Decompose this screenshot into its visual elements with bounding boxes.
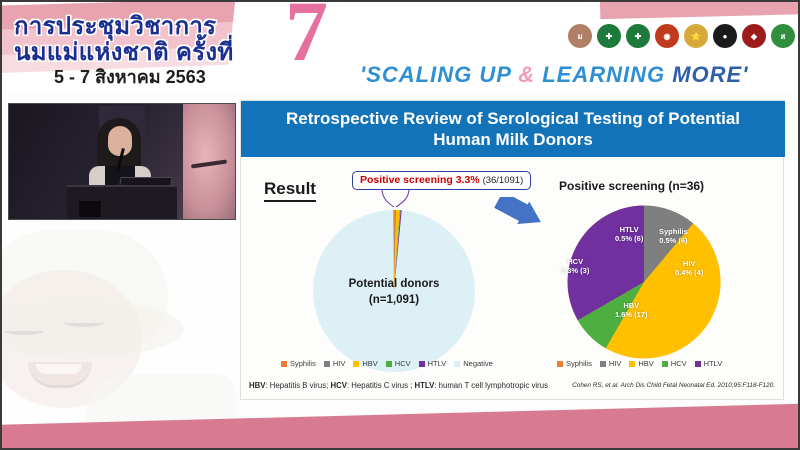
footnote-hcv-abbr: HCV <box>330 381 346 390</box>
left-pie-center-line-1: Potential donors <box>304 277 484 293</box>
callout-highlight-text: Positive screening 3.3% <box>360 174 480 186</box>
slice-label-hiv: HIV 0.4% (4) <box>675 259 703 278</box>
slice-label-hcv: HCV 0.3% (3) <box>561 257 589 276</box>
positive-screening-callout: Positive screening 3.3% (36/1091) <box>352 171 531 190</box>
conference-date-thai: 5 - 7 สิงหาคม 2563 <box>54 62 206 91</box>
legend-swatch-icon <box>281 361 287 367</box>
legend-item-right-hcv[interactable]: HCV <box>662 359 687 368</box>
right-pie-title: Positive screening (n=36) <box>559 179 704 193</box>
right-pie-chart: HTLV 0.5% (6) Syphilis 0.5% (6) HIV 0.4%… <box>559 197 729 357</box>
slice-label-hbv: HBV 1.6% (17) <box>615 301 648 320</box>
left-pie-legend: SyphilisHIVHBVHCVHTLVNegative <box>281 359 493 368</box>
legend-label: HIV <box>609 359 622 368</box>
legend-label: Syphilis <box>566 359 592 368</box>
legend-label: Syphilis <box>290 359 316 368</box>
baby-face <box>0 270 142 408</box>
source-citation: Cohen RS, et al. Arch Dis Child Fetal Ne… <box>572 382 775 389</box>
legend-swatch-icon <box>353 361 359 367</box>
legend-item-right-hiv[interactable]: HIV <box>600 359 622 368</box>
slide-content-panel: Retrospective Review of Serological Test… <box>240 100 784 400</box>
legend-label: HBV <box>638 359 653 368</box>
footnote-htlv-abbr: HTLV <box>415 381 435 390</box>
legend-item-left-syphilis[interactable]: Syphilis <box>281 359 316 368</box>
left-pie-center-line-2: (n=1,091) <box>304 293 484 309</box>
conference-edition-number: 7 <box>285 0 328 74</box>
right-pie-svg <box>559 197 729 367</box>
legend-swatch-icon <box>629 361 635 367</box>
baby-hat <box>0 230 168 350</box>
callout-fraction-text: (36/1091) <box>483 175 524 186</box>
baby-teeth <box>36 364 82 374</box>
legend-item-right-syphilis[interactable]: Syphilis <box>557 359 592 368</box>
legend-item-right-hbv[interactable]: HBV <box>629 359 653 368</box>
legend-item-left-negative[interactable]: Negative <box>454 359 493 368</box>
legend-label: HTLV <box>704 359 723 368</box>
baby-eye-left <box>4 326 44 335</box>
legend-item-left-hiv[interactable]: HIV <box>324 359 346 368</box>
video-baby-closeup <box>183 103 236 220</box>
legend-item-left-htlv[interactable]: HTLV <box>419 359 447 368</box>
flow-arrow-icon <box>493 197 547 247</box>
footer-pink-band <box>0 390 800 450</box>
royal-emblem-logo: ม <box>568 24 592 48</box>
conference-header-banner: การประชุมวิชาการ นมแม่แห่งชาติ ครั้งที่ … <box>0 0 800 93</box>
legend-label: Negative <box>463 359 493 368</box>
result-heading: Result <box>264 179 316 202</box>
slogan-part-1: 'SCALING UP <box>360 62 518 87</box>
left-pie-chart: Potential donors (n=1,091) <box>304 201 484 381</box>
ministry-health-logo-2: ✚ <box>626 24 650 48</box>
footer-stripe-dark <box>0 402 800 450</box>
legend-item-left-hbv[interactable]: HBV <box>353 359 377 368</box>
baby-eye-right <box>64 318 104 327</box>
legend-label: HBV <box>362 359 377 368</box>
legend-swatch-icon <box>695 361 701 367</box>
legend-swatch-icon <box>557 361 563 367</box>
legend-swatch-icon <box>662 361 668 367</box>
legend-swatch-icon <box>454 361 460 367</box>
legend-swatch-icon <box>386 361 392 367</box>
conference-slogan: 'SCALING UP & LEARNING MORE' <box>360 62 748 88</box>
footnote-hbv-abbr: HBV <box>249 381 265 390</box>
podium-plate <box>79 201 101 217</box>
black-seal-logo: ● <box>713 24 737 48</box>
footnote-hcv-text: : Hepatitis C virus ; <box>347 381 415 390</box>
presentation-video-feed[interactable] <box>8 103 236 220</box>
footnote-htlv-text: : human T cell lymphotropic virus <box>434 381 548 390</box>
slogan-part-3: MORE' <box>672 62 748 87</box>
slice-label-htlv: HTLV 0.5% (6) <box>615 225 643 244</box>
slide-presentation-screenshot: การประชุมวิชาการ นมแม่แห่งชาติ ครั้งที่ … <box>0 0 800 450</box>
left-pie-center-label: Potential donors (n=1,091) <box>304 277 484 308</box>
ministry-health-logo-1: ✚ <box>597 24 621 48</box>
slogan-ampersand: & <box>518 62 535 87</box>
legend-label: HTLV <box>428 359 447 368</box>
thai-royal-crown-logo: ◉ <box>655 24 679 48</box>
slice-label-syphilis: Syphilis 0.5% (6) <box>659 227 688 246</box>
legend-item-right-htlv[interactable]: HTLV <box>695 359 723 368</box>
legend-label: HIV <box>333 359 346 368</box>
sponsor-logo-strip: ม✚✚◉⭐●◆ส <box>568 24 795 48</box>
slogan-part-2: LEARNING <box>535 62 672 87</box>
legend-swatch-icon <box>600 361 606 367</box>
right-pie-legend: SyphilisHIVHBVHCVHTLV <box>557 359 722 368</box>
legend-swatch-icon <box>324 361 330 367</box>
legend-label: HCV <box>395 359 411 368</box>
garuda-emblem-logo: ⭐ <box>684 24 708 48</box>
baby-mouth <box>28 362 92 388</box>
legend-label: HCV <box>671 359 687 368</box>
red-seal-logo: ◆ <box>742 24 766 48</box>
footnote-hbv-text: : Hepatitis B virus; <box>265 381 330 390</box>
legend-swatch-icon <box>419 361 425 367</box>
legend-item-left-hcv[interactable]: HCV <box>386 359 411 368</box>
thaihealth-sss-logo: ส <box>771 24 795 48</box>
baby-hat-brim <box>0 300 184 358</box>
slide-title: Retrospective Review of Serological Test… <box>241 101 785 157</box>
